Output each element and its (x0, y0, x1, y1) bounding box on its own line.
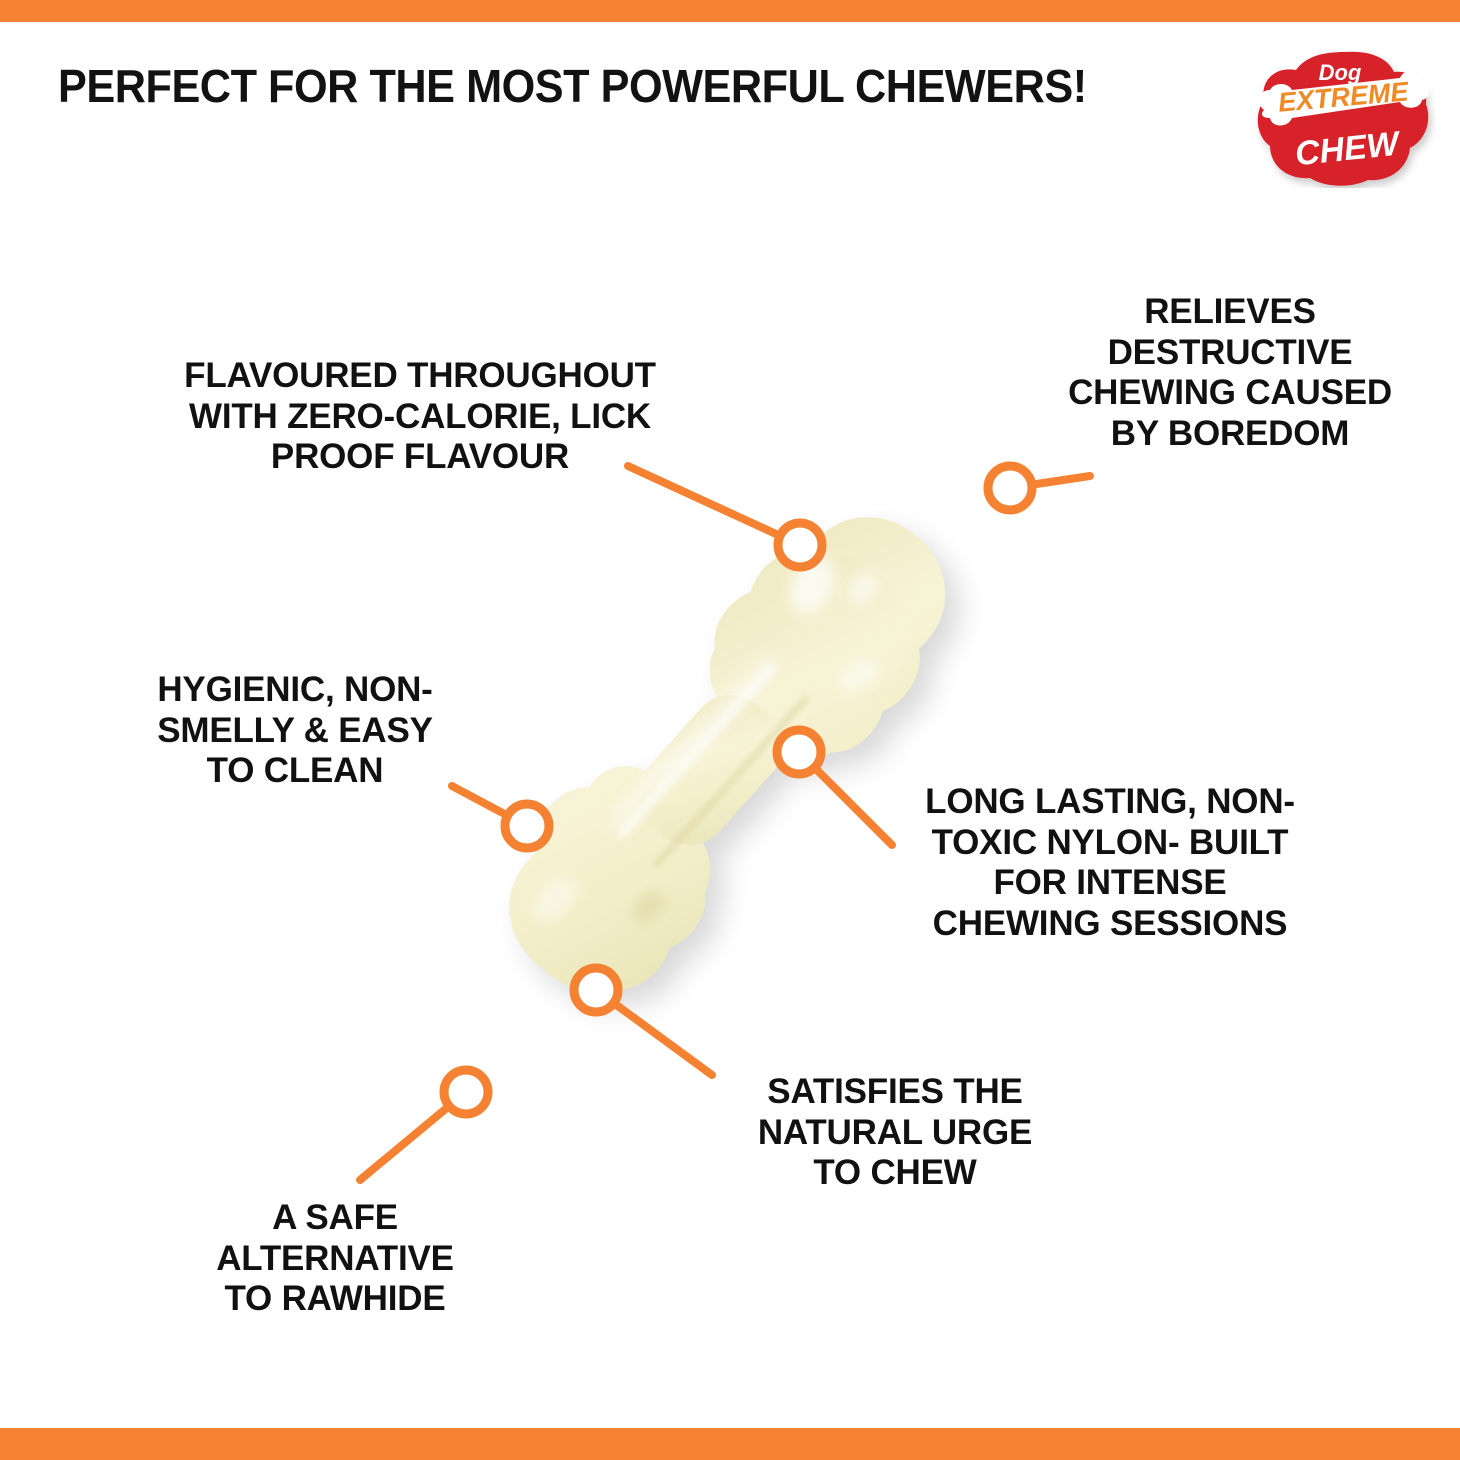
callout-label-flavour: FLAVOURED THROUGHOUT WITH ZERO-CALORIE, … (120, 356, 720, 478)
callout-label-rawhide: A SAFE ALTERNATIVE TO RAWHIDE (185, 1198, 485, 1320)
brand-logo: Dog EXTREME CHEW (1252, 48, 1436, 188)
callout-label-hygienic: HYGIENIC, NON- SMELLY & EASY TO CLEAN (120, 670, 470, 792)
callout-label-satisfies: SATISFIES THE NATURAL URGE TO CHEW (730, 1072, 1060, 1194)
bottom-accent-bar (0, 1428, 1460, 1460)
page-title: PERFECT FOR THE MOST POWERFUL CHEWERS! (58, 62, 1120, 110)
top-accent-bar (0, 0, 1460, 22)
callout-label-relieves: RELIEVES DESTRUCTIVE CHEWING CAUSED BY B… (1030, 292, 1430, 454)
callout-label-long-lasting: LONG LASTING, NON- TOXIC NYLON- BUILT FO… (890, 782, 1330, 944)
infographic-page: PERFECT FOR THE MOST POWERFUL CHEWERS! D… (0, 0, 1460, 1460)
